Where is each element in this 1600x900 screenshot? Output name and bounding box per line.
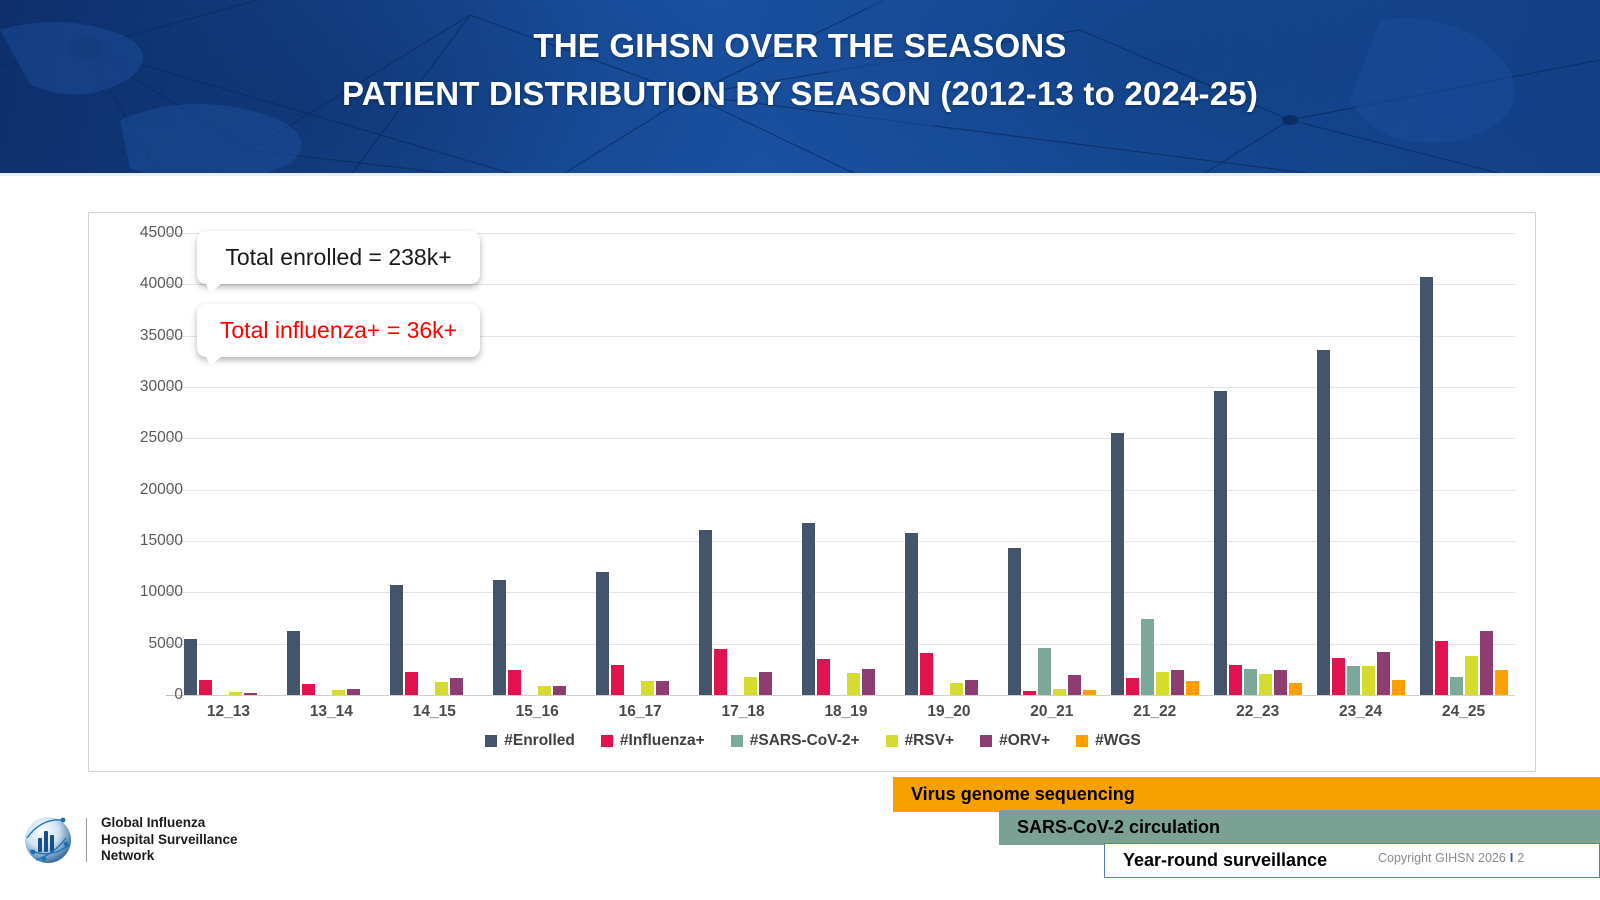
x-axis-label-19_20: 19_20 — [894, 703, 1004, 721]
bar-enrolled-17_18[interactable] — [699, 530, 712, 695]
page-header: THE GIHSN OVER THE SEASONS PATIENT DISTR… — [0, 0, 1600, 176]
bar-sars-cov-2-20_21[interactable] — [1038, 648, 1051, 695]
bar-enrolled-24_25[interactable] — [1420, 277, 1433, 695]
legend-label: #Enrolled — [504, 732, 575, 750]
y-axis-tick-mark — [166, 438, 175, 439]
bar-rsv-19_20[interactable] — [950, 683, 963, 695]
y-axis-tick-mark — [166, 695, 175, 696]
x-axis-label-14_15: 14_15 — [379, 703, 489, 721]
gihsn-globe-icon — [20, 812, 76, 868]
legend-item-rsv[interactable]: #RSV+ — [886, 732, 955, 750]
bar-wgs-22_23[interactable] — [1289, 683, 1302, 695]
bar-orv-21_22[interactable] — [1171, 670, 1184, 695]
x-axis-label-12_13: 12_13 — [173, 703, 283, 721]
legend-label: #ORV+ — [999, 732, 1050, 750]
callout-total-enrolled-label: Total enrolled = 238k+ — [225, 244, 451, 271]
bar-wgs-21_22[interactable] — [1186, 681, 1199, 695]
bar-sars-cov-2-23_24[interactable] — [1347, 666, 1360, 695]
callout-total-enrolled: Total enrolled = 238k+ — [197, 231, 480, 284]
bar-group — [692, 233, 795, 695]
bar-enrolled-13_14[interactable] — [287, 631, 300, 695]
y-axis-tick-mark — [166, 336, 175, 337]
bar-enrolled-20_21[interactable] — [1008, 548, 1021, 695]
x-axis-label-20_21: 20_21 — [997, 703, 1107, 721]
bar-orv-14_15[interactable] — [450, 678, 463, 695]
bar-group — [177, 233, 280, 695]
bar-group — [1000, 233, 1103, 695]
bar-influenza-19_20[interactable] — [920, 653, 933, 695]
bar-sars-cov-2-24_25[interactable] — [1450, 677, 1463, 695]
copyright-separator: I — [1510, 851, 1513, 865]
bar-enrolled-16_17[interactable] — [596, 572, 609, 695]
legend-item-orv[interactable]: #ORV+ — [980, 732, 1050, 750]
logo-divider — [86, 818, 87, 862]
chart-container: 12_1313_1414_1515_1616_1717_1818_1919_20… — [88, 212, 1536, 772]
bar-group — [486, 233, 589, 695]
copyright-text: Copyright GIHSN 2026 — [1378, 851, 1506, 865]
page-number: 2 — [1517, 851, 1524, 865]
bar-rsv-14_15[interactable] — [435, 682, 448, 695]
bar-influenza-12_13[interactable] — [199, 680, 212, 695]
bar-orv-15_16[interactable] — [553, 686, 566, 695]
brand-line-3: Network — [101, 848, 238, 865]
bar-group — [1309, 233, 1412, 695]
x-axis-label-15_16: 15_16 — [482, 703, 592, 721]
bar-rsv-17_18[interactable] — [744, 677, 757, 695]
y-axis-tick-mark — [166, 592, 175, 593]
callout-total-influenza-label: Total influenza+ = 36k+ — [220, 317, 457, 344]
gridline — [177, 695, 1515, 696]
x-axis-label-16_17: 16_17 — [585, 703, 695, 721]
bar-enrolled-15_16[interactable] — [493, 580, 506, 695]
bar-group — [1103, 233, 1206, 695]
bar-rsv-16_17[interactable] — [641, 681, 654, 695]
bar-wgs-23_24[interactable] — [1392, 680, 1405, 695]
bar-influenza-16_17[interactable] — [611, 665, 624, 695]
bar-orv-20_21[interactable] — [1068, 675, 1081, 695]
legend-swatch — [1076, 735, 1088, 747]
bar-group — [897, 233, 1000, 695]
legend-item-enrolled[interactable]: #Enrolled — [485, 732, 575, 750]
bar-wgs-20_21[interactable] — [1083, 690, 1096, 695]
legend-item-wgs[interactable]: #WGS — [1076, 732, 1141, 750]
y-axis-tick-mark — [166, 387, 175, 388]
bar-enrolled-22_23[interactable] — [1214, 391, 1227, 695]
bar-enrolled-23_24[interactable] — [1317, 350, 1330, 695]
legend-item-influenza[interactable]: #Influenza+ — [601, 732, 705, 750]
bar-enrolled-12_13[interactable] — [184, 639, 197, 695]
bar-group — [383, 233, 486, 695]
brand-name: Global Influenza Hospital Surveillance N… — [101, 815, 238, 865]
bar-influenza-21_22[interactable] — [1126, 678, 1139, 695]
bar-rsv-22_23[interactable] — [1259, 674, 1272, 695]
bar-influenza-17_18[interactable] — [714, 649, 727, 695]
bar-group — [589, 233, 692, 695]
banner-label: SARS-CoV-2 circulation — [1017, 817, 1220, 838]
y-axis-tick-mark — [166, 284, 175, 285]
x-axis-label-23_24: 23_24 — [1306, 703, 1416, 721]
bar-rsv-12_13[interactable] — [229, 692, 242, 695]
bar-enrolled-18_19[interactable] — [802, 523, 815, 695]
legend-label: #SARS-CoV-2+ — [750, 732, 860, 750]
legend-label: #WGS — [1095, 732, 1141, 750]
y-axis-tick-mark — [166, 644, 175, 645]
x-axis-label-24_25: 24_25 — [1409, 703, 1519, 721]
bar-rsv-21_22[interactable] — [1156, 672, 1169, 695]
bar-orv-18_19[interactable] — [862, 669, 875, 695]
bar-group — [280, 233, 383, 695]
bar-influenza-20_21[interactable] — [1023, 691, 1036, 695]
bar-rsv-18_19[interactable] — [847, 673, 860, 695]
bar-group — [1206, 233, 1309, 695]
plot-area: 12_1313_1414_1515_1616_1717_1818_1919_20… — [177, 233, 1515, 695]
bar-sars-cov-2-22_23[interactable] — [1244, 669, 1257, 695]
bar-group — [1412, 233, 1515, 695]
x-axis-label-18_19: 18_19 — [791, 703, 901, 721]
banner-sars-cov-2-circulation: SARS-CoV-2 circulation — [999, 810, 1600, 845]
page-title: THE GIHSN OVER THE SEASONS PATIENT DISTR… — [0, 22, 1600, 118]
bar-rsv-23_24[interactable] — [1362, 666, 1375, 695]
header-bottom-rule — [0, 173, 1600, 176]
callout-total-influenza: Total influenza+ = 36k+ — [197, 304, 480, 357]
bar-orv-24_25[interactable] — [1480, 631, 1493, 695]
x-axis-label-17_18: 17_18 — [688, 703, 798, 721]
bar-influenza-23_24[interactable] — [1332, 658, 1345, 695]
bar-sars-cov-2-21_22[interactable] — [1141, 619, 1154, 695]
legend-item-sars-cov-2[interactable]: #SARS-CoV-2+ — [731, 732, 860, 750]
bar-rsv-13_14[interactable] — [332, 690, 345, 695]
bar-enrolled-19_20[interactable] — [905, 533, 918, 695]
bar-influenza-22_23[interactable] — [1229, 665, 1242, 695]
y-axis-tick-mark — [166, 233, 175, 234]
brand-line-2: Hospital Surveillance — [101, 832, 238, 849]
bar-orv-23_24[interactable] — [1377, 652, 1390, 695]
bar-group — [795, 233, 898, 695]
legend-swatch — [601, 735, 613, 747]
banner-label: Year-round surveillance — [1123, 850, 1327, 871]
bar-orv-19_20[interactable] — [965, 680, 978, 695]
bar-wgs-24_25[interactable] — [1495, 670, 1508, 695]
copyright-notice: Copyright GIHSN 2026I2 — [1378, 851, 1524, 865]
bar-orv-13_14[interactable] — [347, 689, 360, 695]
x-axis-label-21_22: 21_22 — [1100, 703, 1210, 721]
bar-rsv-15_16[interactable] — [538, 686, 551, 695]
bar-enrolled-21_22[interactable] — [1111, 433, 1124, 695]
bar-influenza-14_15[interactable] — [405, 672, 418, 695]
bar-orv-12_13[interactable] — [244, 693, 257, 695]
bar-rsv-20_21[interactable] — [1053, 689, 1066, 695]
y-axis-tick-mark — [166, 541, 175, 542]
legend-label: #RSV+ — [905, 732, 955, 750]
bar-influenza-13_14[interactable] — [302, 684, 315, 695]
bar-rsv-24_25[interactable] — [1465, 656, 1478, 695]
bar-influenza-15_16[interactable] — [508, 670, 521, 695]
banner-year-round-surveillance: Year-round surveillance — [1104, 843, 1600, 878]
x-axis-label-22_23: 22_23 — [1203, 703, 1313, 721]
legend-label: #Influenza+ — [620, 732, 705, 750]
x-axis-label-13_14: 13_14 — [276, 703, 386, 721]
bar-orv-22_23[interactable] — [1274, 670, 1287, 695]
footer-logo: Global Influenza Hospital Surveillance N… — [20, 812, 238, 868]
bar-influenza-24_25[interactable] — [1435, 641, 1448, 695]
legend-swatch — [980, 735, 992, 747]
banner-virus-genome-sequencing: Virus genome sequencing — [893, 777, 1600, 812]
banner-label: Virus genome sequencing — [911, 784, 1135, 805]
bar-enrolled-14_15[interactable] — [390, 585, 403, 695]
bar-orv-16_17[interactable] — [656, 681, 669, 695]
legend-swatch — [886, 735, 898, 747]
legend-swatch — [485, 735, 497, 747]
bar-orv-17_18[interactable] — [759, 672, 772, 695]
chart-legend: #Enrolled#Influenza+#SARS-CoV-2+#RSV+#OR… — [89, 732, 1537, 750]
title-line-1: THE GIHSN OVER THE SEASONS — [533, 27, 1066, 64]
legend-swatch — [731, 735, 743, 747]
title-line-2: PATIENT DISTRIBUTION BY SEASON (2012-13 … — [0, 70, 1600, 118]
y-axis-tick-mark — [166, 490, 175, 491]
bar-influenza-18_19[interactable] — [817, 659, 830, 695]
brand-line-1: Global Influenza — [101, 815, 238, 832]
